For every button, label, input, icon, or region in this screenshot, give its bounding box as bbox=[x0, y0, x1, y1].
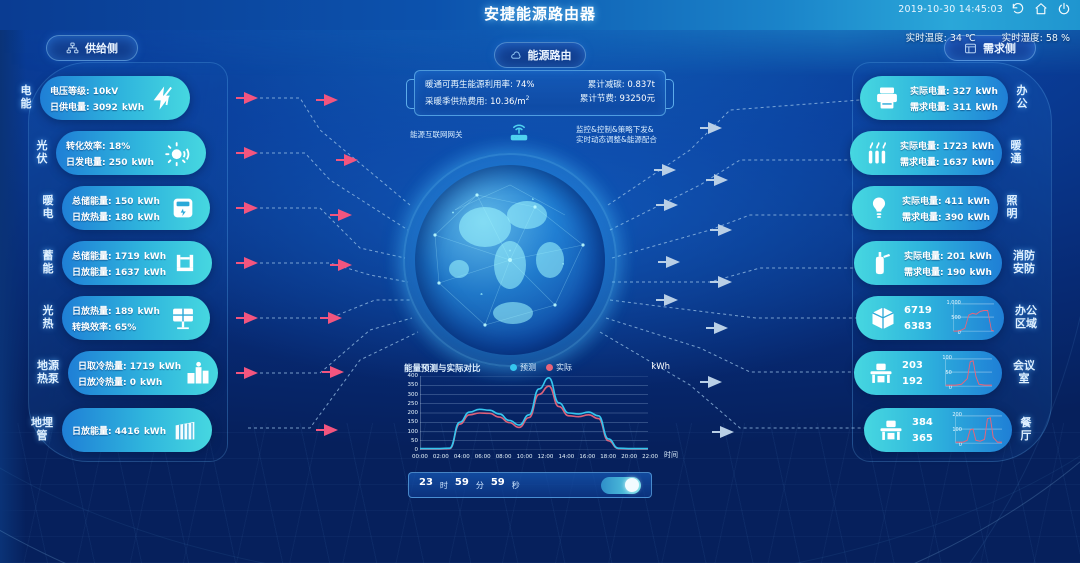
value: 1719 bbox=[130, 362, 155, 372]
value: 3092 bbox=[93, 103, 118, 113]
network-globe bbox=[415, 165, 605, 355]
renewable-rate-label: 暖通可再生能源利用率: bbox=[425, 80, 513, 90]
label: 日放热量: bbox=[72, 213, 112, 223]
supply-category-label-1: 光伏 bbox=[32, 139, 52, 165]
label: 日供电量: bbox=[50, 103, 90, 113]
chart-xtick: 22:00 bbox=[642, 454, 658, 460]
value: 311 bbox=[953, 103, 972, 113]
solar-panel-icon bbox=[166, 301, 200, 335]
chart-ytick: 200 bbox=[408, 410, 419, 416]
demand-card-2[interactable]: 实际电量: 411kWh需求电量: 390kWh bbox=[852, 186, 998, 230]
supply-card-1-row-1: 日发电量: 250kWh bbox=[66, 155, 154, 168]
temperature-readout: 实时温度: 34 ℃ bbox=[906, 30, 976, 44]
supply-category-label-6: 地埋管 bbox=[30, 416, 54, 442]
chart-x-axis-ticks: 00:0002:0004:0006:0008:0010:0012:0014:00… bbox=[412, 454, 658, 460]
carbon-value: 0.837t bbox=[627, 80, 655, 90]
chart-xtick: 14:00 bbox=[558, 454, 574, 460]
label: 实际电量: bbox=[904, 252, 944, 262]
label: 日放能量: bbox=[72, 268, 112, 278]
supply-card-4-stats: 日放热量: 189kWh转换效率: 65% bbox=[72, 304, 160, 333]
minute-label: 分 bbox=[472, 480, 488, 491]
demand-chart-card-1[interactable]: 203192100500 bbox=[854, 351, 1002, 395]
demand-card-1[interactable]: 实际电量: 1723kWh需求电量: 1637kWh bbox=[850, 131, 1002, 175]
legend-label-actual: 实际 bbox=[556, 362, 572, 373]
value: 250 bbox=[109, 158, 128, 168]
unit: kWh bbox=[972, 87, 998, 97]
globe-sphere bbox=[415, 165, 605, 355]
heating-cost-value: 10.36/m bbox=[490, 96, 525, 106]
chart-ytick: 100 bbox=[408, 429, 419, 435]
unit: kWh bbox=[968, 142, 994, 152]
second-label: 秒 bbox=[508, 480, 524, 491]
supply-card-6-stats: 日放能量: 4416kWh bbox=[72, 424, 166, 437]
demand-category-label-1: 暖通 bbox=[1006, 139, 1026, 165]
value: 1723 bbox=[943, 142, 968, 152]
actual-value: 384 bbox=[912, 417, 933, 428]
supply-card-2-row-0: 总储能量: 150kWh bbox=[72, 194, 160, 207]
demand-card-3-row-1: 需求电量: 190kWh bbox=[904, 265, 992, 278]
demand-card-0-row-0: 实际电量: 327kWh bbox=[910, 84, 998, 97]
legend-label-forecast: 预测 bbox=[520, 362, 536, 373]
legend-item-actual[interactable]: 实际 bbox=[546, 362, 572, 373]
supply-category-label-0: 电能 bbox=[16, 84, 36, 110]
demand-category-label-3: 消防安防 bbox=[1012, 249, 1036, 275]
environment-readouts: 实时温度: 34 ℃ 实时湿度: 58 % bbox=[906, 30, 1070, 44]
saving-label: 累计节费: bbox=[580, 94, 617, 104]
mini-chart-0: 1,0005000 bbox=[946, 303, 994, 333]
value: 1637 bbox=[115, 268, 140, 278]
value: 411 bbox=[945, 197, 964, 207]
label: 日取冷热量: bbox=[78, 362, 127, 372]
demand-chart-values-2: 384365 bbox=[912, 417, 937, 444]
label: 需求电量: bbox=[902, 213, 942, 223]
heat-pump-icon bbox=[181, 356, 215, 390]
gateway-label: 能源互联网网关 bbox=[410, 130, 463, 140]
ground-pipe-icon bbox=[168, 413, 202, 447]
carbon-label: 累计减碳: bbox=[588, 80, 625, 90]
demand-card-3-row-0: 实际电量: 201kWh bbox=[904, 249, 992, 262]
printer-icon bbox=[870, 81, 904, 115]
unit: kWh bbox=[134, 307, 160, 317]
chart-ytick: 350 bbox=[408, 382, 419, 388]
supply-card-4[interactable]: 日放热量: 189kWh转换效率: 65% bbox=[62, 296, 210, 340]
supply-card-4-row-0: 日放热量: 189kWh bbox=[72, 304, 160, 317]
value: 150 bbox=[115, 197, 134, 207]
label: 日放热量: bbox=[72, 307, 112, 317]
toggle-knob bbox=[625, 478, 639, 492]
supply-category-label-2: 暖电 bbox=[38, 194, 58, 220]
demand-category-label-2: 照明 bbox=[1002, 194, 1022, 220]
minute-value[interactable]: 59 bbox=[455, 477, 469, 488]
unit: kWh bbox=[140, 427, 166, 437]
chart-unit-label: kWh bbox=[651, 362, 670, 372]
demand-chart-card-2[interactable]: 3843652001000 bbox=[864, 408, 1012, 452]
value: 1719 bbox=[115, 252, 140, 262]
supply-card-3-row-1: 日放能量: 1637kWh bbox=[72, 265, 166, 278]
solar-sun-icon bbox=[162, 136, 196, 170]
router-icon bbox=[508, 122, 530, 148]
label: 实际电量: bbox=[910, 87, 950, 97]
label: 实际电量: bbox=[900, 142, 940, 152]
renewable-rate-value: 74% bbox=[516, 80, 535, 90]
info-row-2: 采暖季供热费用: 10.36/m2 累计节费: 93250元 bbox=[425, 92, 655, 109]
supply-card-3[interactable]: 总储能量: 1719kWh日放能量: 1637kWh bbox=[62, 241, 212, 285]
gateway-description: 监控&控制&策略下发& 实时动态调整&能源配合 bbox=[576, 125, 672, 145]
energy-route-button[interactable]: 能源路由 bbox=[494, 42, 586, 68]
demand-chart-category-label-0: 办公区域 bbox=[1014, 304, 1038, 330]
value: 180 bbox=[115, 213, 134, 223]
chart-ytick: 400 bbox=[408, 373, 419, 379]
supply-card-5-row-1: 日放冷热量: 0kWh bbox=[78, 375, 181, 388]
fire-extinguisher-icon bbox=[864, 246, 898, 280]
chart-ytick: 50 bbox=[411, 438, 418, 444]
unit: kWh bbox=[128, 158, 154, 168]
label: 转换效率: bbox=[72, 323, 112, 333]
supply-card-1[interactable]: 转化效率: 18%日发电量: 250kWh bbox=[56, 131, 206, 175]
app-header: 安捷能源路由器 2019-10-30 14:45:03 bbox=[0, 0, 1080, 30]
mini-chart-svg-1 bbox=[937, 358, 992, 388]
chart-xtick: 20:00 bbox=[621, 454, 637, 460]
unit: kWh bbox=[972, 103, 998, 113]
demand-chart-category-label-1: 会议室 bbox=[1012, 359, 1036, 385]
demand-chart-values-1: 203192 bbox=[902, 360, 927, 387]
chart-xtick: 18:00 bbox=[600, 454, 616, 460]
supply-card-5-stats: 日取冷热量: 1719kWh日放冷热量: 0kWh bbox=[78, 359, 181, 388]
legend-swatch-forecast bbox=[510, 364, 517, 371]
chart-xtick: 02:00 bbox=[433, 454, 449, 460]
value: 65% bbox=[115, 323, 137, 333]
chart-plot-area bbox=[420, 376, 648, 450]
heating-cost-label: 采暖季供热费用: bbox=[425, 96, 487, 106]
demand-card-0-row-1: 需求电量: 311kWh bbox=[910, 100, 998, 113]
supply-card-0[interactable]: 电压等级: 10kV日供电量: 3092kWh bbox=[40, 76, 190, 120]
label: 电压等级: bbox=[50, 87, 90, 97]
demand-value: 365 bbox=[912, 433, 933, 444]
lightbulb-icon bbox=[862, 191, 896, 225]
unit: kWh bbox=[134, 213, 160, 223]
value: 1637 bbox=[943, 158, 968, 168]
label: 日发电量: bbox=[66, 158, 106, 168]
demand-category-label-0: 办公 bbox=[1012, 84, 1032, 110]
hour-label: 时 bbox=[436, 480, 452, 491]
desk-icon bbox=[864, 356, 898, 390]
supply-category-label-5: 地源热泵 bbox=[36, 359, 60, 385]
chart-xtick: 16:00 bbox=[579, 454, 595, 460]
desk-icon bbox=[874, 413, 908, 447]
value: 201 bbox=[947, 252, 966, 262]
dashboard-stage: 安捷能源路由器 2019-10-30 14:45:03 实时温度: 34 ℃ 实… bbox=[0, 0, 1080, 563]
demand-value: 192 bbox=[902, 376, 923, 387]
supply-side-button[interactable]: 供给侧 bbox=[46, 35, 138, 61]
chart-xtick: 00:00 bbox=[412, 454, 428, 460]
cloud-route-icon bbox=[509, 49, 522, 62]
gateway-desc-line2: 实时动态调整&能源配合 bbox=[576, 135, 672, 145]
chart-svg bbox=[420, 376, 648, 450]
supply-card-5[interactable]: 日取冷热量: 1719kWh日放冷热量: 0kWh bbox=[68, 351, 218, 395]
unit: kWh bbox=[964, 197, 990, 207]
unit: kWh bbox=[136, 378, 162, 388]
power-icon[interactable] bbox=[1056, 1, 1072, 17]
demand-card-0[interactable]: 实际电量: 327kWh需求电量: 311kWh bbox=[860, 76, 1008, 120]
gateway-row: 能源互联网网关 监控&控制&策略下发& 实时动态调整&能源配合 bbox=[410, 122, 672, 148]
chart-xtick: 12:00 bbox=[538, 454, 554, 460]
label: 日放能量: bbox=[72, 427, 112, 437]
mini-chart-1: 100500 bbox=[937, 358, 992, 388]
datetime-display: 2019-10-30 14:45:03 bbox=[898, 4, 1003, 15]
chart-xtick: 04:00 bbox=[454, 454, 470, 460]
demand-value: 6383 bbox=[904, 321, 932, 332]
actual-value: 203 bbox=[902, 360, 923, 371]
label: 转化效率: bbox=[66, 142, 106, 152]
supply-card-0-stats: 电压等级: 10kV日供电量: 3092kWh bbox=[50, 84, 144, 113]
chart-x-axis-label: 时间 bbox=[664, 450, 678, 460]
mini-chart-2: 2001000 bbox=[947, 415, 1002, 445]
chart-xtick: 10:00 bbox=[517, 454, 533, 460]
value: 10kV bbox=[93, 87, 118, 97]
hour-value[interactable]: 23 bbox=[419, 477, 433, 488]
second-value[interactable]: 59 bbox=[491, 477, 505, 488]
mini-chart-svg-0 bbox=[946, 303, 994, 333]
demand-card-0-stats: 实际电量: 327kWh需求电量: 311kWh bbox=[910, 84, 998, 113]
forecast-vs-actual-chart: 能量预测与实际对比 预测 实际 kWh 40035030025020015010… bbox=[398, 362, 660, 470]
supply-card-3-stats: 总储能量: 1719kWh日放能量: 1637kWh bbox=[72, 249, 166, 278]
chart-xtick: 08:00 bbox=[496, 454, 512, 460]
legend-item-forecast[interactable]: 预测 bbox=[510, 362, 536, 373]
radiator-icon bbox=[860, 136, 894, 170]
mini-chart-svg-2 bbox=[947, 415, 1002, 445]
actual-value: 6719 bbox=[904, 305, 932, 316]
time-control-bar[interactable]: 23 时 59 分 59 秒 bbox=[408, 472, 652, 498]
supply-card-3-row-0: 总储能量: 1719kWh bbox=[72, 249, 166, 262]
chart-ytick: 150 bbox=[408, 419, 419, 425]
chart-ytick: 250 bbox=[408, 401, 419, 407]
chart-ytick: 0 bbox=[415, 447, 419, 453]
gateway-desc-line1: 监控&控制&策略下发& bbox=[576, 125, 672, 135]
globe-particles bbox=[415, 165, 605, 355]
bracket-right bbox=[666, 79, 674, 109]
label: 实际电量: bbox=[902, 197, 942, 207]
chart-xtick: 06:00 bbox=[475, 454, 491, 460]
demand-card-1-row-1: 需求电量: 1637kWh bbox=[900, 155, 994, 168]
sitemap-icon bbox=[66, 42, 79, 55]
supply-side-button-label: 供给侧 bbox=[85, 40, 118, 56]
value: 327 bbox=[953, 87, 972, 97]
label: 需求电量: bbox=[904, 268, 944, 278]
playback-toggle[interactable] bbox=[601, 477, 641, 494]
supply-card-1-stats: 转化效率: 18%日发电量: 250kWh bbox=[66, 139, 154, 168]
chart-y-axis-ticks: 400350300250200150100500 bbox=[398, 373, 418, 453]
supply-card-5-row-0: 日取冷热量: 1719kWh bbox=[78, 359, 181, 372]
supply-card-4-row-1: 转换效率: 65% bbox=[72, 320, 160, 333]
value: 390 bbox=[945, 213, 964, 223]
legend-swatch-actual bbox=[546, 364, 553, 371]
chart-legend: 预测 实际 bbox=[510, 362, 572, 373]
heating-cost-superscript: 2 bbox=[526, 95, 530, 102]
supply-card-6[interactable]: 日放能量: 4416kWh bbox=[62, 408, 212, 452]
label: 需求电量: bbox=[910, 103, 950, 113]
label: 需求电量: bbox=[900, 158, 940, 168]
demand-card-2-row-0: 实际电量: 411kWh bbox=[902, 194, 990, 207]
supply-category-label-4: 光热 bbox=[38, 304, 58, 330]
bracket-left bbox=[406, 79, 414, 109]
energy-route-button-label: 能源路由 bbox=[528, 47, 572, 63]
humidity-readout: 实时湿度: 58 % bbox=[1002, 30, 1070, 44]
unit: kWh bbox=[140, 268, 166, 278]
supply-card-2-row-1: 日放热量: 180kWh bbox=[72, 210, 160, 223]
demand-card-1-row-0: 实际电量: 1723kWh bbox=[900, 139, 994, 152]
unit: kWh bbox=[968, 158, 994, 168]
supply-card-0-row-1: 日供电量: 3092kWh bbox=[50, 100, 144, 113]
unit: kWh bbox=[140, 252, 166, 262]
unit: kWh bbox=[966, 252, 992, 262]
supply-card-2[interactable]: 总储能量: 150kWh日放热量: 180kWh bbox=[62, 186, 210, 230]
label: 总储能量: bbox=[72, 252, 112, 262]
supply-category-label-3: 蓄能 bbox=[38, 249, 58, 275]
building-icon bbox=[866, 301, 900, 335]
value: 4416 bbox=[115, 427, 140, 437]
demand-card-1-stats: 实际电量: 1723kWh需求电量: 1637kWh bbox=[900, 139, 994, 168]
saving-value: 93250元 bbox=[619, 94, 655, 104]
unit: kWh bbox=[134, 197, 160, 207]
unit: kWh bbox=[964, 213, 990, 223]
demand-chart-values-0: 67196383 bbox=[904, 305, 936, 332]
value: 190 bbox=[947, 268, 966, 278]
demand-chart-category-label-2: 餐厅 bbox=[1016, 416, 1036, 442]
unit: kWh bbox=[155, 362, 181, 372]
value: 18% bbox=[109, 142, 131, 152]
lightning-icon bbox=[146, 81, 180, 115]
supply-card-1-row-0: 转化效率: 18% bbox=[66, 139, 154, 152]
summary-info-panel: 暖通可再生能源利用率: 74% 累计减碳: 0.837t 采暖季供热费用: 10… bbox=[414, 70, 666, 116]
info-row-1: 暖通可再生能源利用率: 74% 累计减碳: 0.837t bbox=[425, 78, 655, 92]
supply-card-2-stats: 总储能量: 150kWh日放热量: 180kWh bbox=[72, 194, 160, 223]
storage-icon bbox=[168, 246, 202, 280]
demand-card-3[interactable]: 实际电量: 201kWh需求电量: 190kWh bbox=[854, 241, 1002, 285]
header-right-group: 2019-10-30 14:45:03 bbox=[898, 1, 1072, 17]
demand-card-2-row-1: 需求电量: 390kWh bbox=[902, 210, 990, 223]
demand-card-3-stats: 实际电量: 201kWh需求电量: 190kWh bbox=[904, 249, 992, 278]
refresh-icon[interactable] bbox=[1010, 1, 1026, 17]
value: 189 bbox=[115, 307, 134, 317]
supply-card-6-row-0: 日放能量: 4416kWh bbox=[72, 424, 166, 437]
supply-card-0-row-0: 电压等级: 10kV bbox=[50, 84, 144, 97]
demand-chart-card-0[interactable]: 671963831,0005000 bbox=[856, 296, 1004, 340]
home-icon[interactable] bbox=[1033, 1, 1049, 17]
label: 日放冷热量: bbox=[78, 378, 127, 388]
meter-icon bbox=[166, 191, 200, 225]
demand-card-2-stats: 实际电量: 411kWh需求电量: 390kWh bbox=[902, 194, 990, 223]
unit: kWh bbox=[118, 103, 144, 113]
chart-ytick: 300 bbox=[408, 392, 419, 398]
label: 总储能量: bbox=[72, 197, 112, 207]
unit: kWh bbox=[966, 268, 992, 278]
